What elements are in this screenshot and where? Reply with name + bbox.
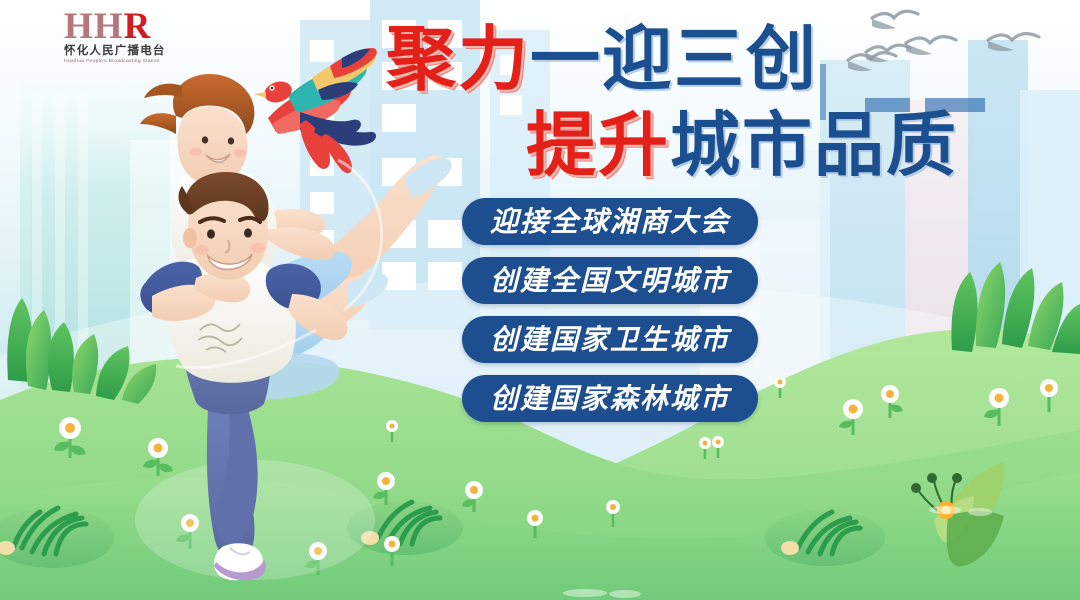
- logo-letters: HHR: [64, 8, 214, 46]
- headline-block: 聚力一迎三创 提升城市品质: [386, 24, 976, 180]
- headline-line-2-navy: 城市品质: [670, 106, 958, 184]
- headline-line-1-navy: 一迎三创: [530, 20, 818, 98]
- slogan-pill-4: 创建国家森林城市: [462, 375, 758, 422]
- child-arm: [268, 227, 336, 260]
- headline-line-2: 提升城市品质: [386, 110, 976, 180]
- logo-chinese-name: 怀化人民广播电台: [64, 45, 214, 58]
- headline-line-1: 聚力一迎三创: [386, 24, 976, 94]
- headline-line-2-red: 提升: [526, 106, 670, 184]
- slogan-pill-1: 迎接全球湘商大会: [462, 198, 758, 245]
- slogan-pill-2: 创建全国文明城市: [462, 257, 758, 304]
- headline-line-1-red: 聚力: [386, 20, 530, 98]
- station-logo: HHR 怀化人民广播电台 Huaihua People's Broadcasti…: [64, 8, 214, 64]
- logo-english-name: Huaihua People's Broadcasting Station: [64, 58, 214, 65]
- bird-kite: [254, 48, 377, 173]
- logo-letters-red: R: [124, 6, 152, 47]
- poster-canvas: HHR 怀化人民广播电台 Huaihua People's Broadcasti…: [0, 0, 1080, 600]
- slogan-pill-3: 创建国家卫生城市: [462, 316, 758, 363]
- logo-letters-gray: HH: [64, 6, 124, 47]
- slogan-list: 迎接全球湘商大会 创建全国文明城市 创建国家卫生城市 创建国家森林城市: [462, 198, 758, 434]
